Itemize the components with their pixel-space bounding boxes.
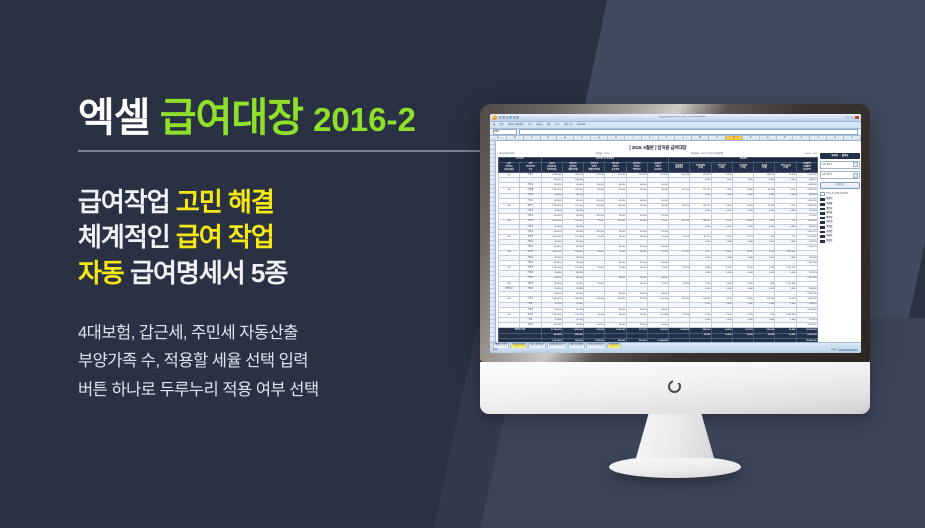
employee-list-item[interactable]: 김수진 [820, 221, 860, 224]
side-panel-title: 명세서 → 출력용 [820, 153, 860, 159]
column-header-s[interactable]: S [793, 136, 810, 141]
payroll-table-body: 001박진혁4,800,000580,000100,000200,000100,… [499, 172, 818, 341]
zoom-level: 100% [831, 349, 837, 352]
column-header-a[interactable]: A [490, 136, 507, 141]
employee-list-item[interactable]: 윤보영 [820, 240, 860, 243]
employee-name: 정가영 [826, 217, 832, 220]
sheet-tab[interactable]: 엑셀기초입력 [493, 343, 509, 348]
payroll-col-header: 연차수당수당금휴가수당 [605, 162, 626, 172]
employee-name: 최기호 [826, 212, 832, 215]
headline-line-3: 자동 급여명세서 5종 [78, 256, 478, 291]
headline-3-plain: 급여명세서 5종 [130, 258, 287, 288]
employee-list-item[interactable]: 최기호 [820, 212, 860, 215]
report-side-panel: 명세서 → 출력용 다음 페이지 이전 페이지 미리보기 [820, 143, 860, 342]
monitor-screen: 엑셀급여대장 2016-2 작업본 - Microsoft Excel 홈 삽입… [490, 114, 861, 353]
prev-page-row[interactable]: 이전 페이지 [820, 171, 860, 180]
sheet-tab[interactable]: 급여_급여지급서 [586, 343, 606, 348]
payroll-col-header: 지방소득세(공제) [775, 162, 796, 172]
step-up-icon[interactable] [853, 173, 858, 178]
employee-name: 정진구 [826, 208, 832, 211]
employee-name: 이현숙 [826, 235, 832, 238]
payroll-col-header: 고용보험(공제) [732, 162, 753, 172]
column-header-o-selected[interactable]: O [726, 136, 743, 141]
column-header-u[interactable]: U [827, 136, 844, 141]
checkbox-icon[interactable] [820, 192, 825, 197]
meta-date: 작성일자 : 2016년 7월 10일 월요일 [691, 153, 723, 156]
column-header-f[interactable]: F [574, 136, 591, 141]
employee-name-list: 박진혁이상률정진구최기호정가영김수진주영진김혁진이현숙윤보영 [820, 198, 860, 242]
ribbon-tab-4[interactable]: 데이터 [536, 124, 543, 127]
subsidy-checkbox-row[interactable]: 두루누리 보험료 지원대상 [820, 192, 860, 197]
employee-list-item[interactable]: 이현숙 [820, 235, 860, 238]
monitor: 엑셀급여대장 2016-2 작업본 - Microsoft Excel 홈 삽입… [480, 104, 870, 478]
apple-logo-icon [668, 380, 681, 393]
column-header-m[interactable]: M [692, 136, 709, 141]
column-header-q[interactable]: Q [760, 136, 777, 141]
zoom-slider[interactable] [838, 349, 858, 351]
office-orb-icon[interactable] [492, 115, 497, 120]
headline-1-plain: 급여작업 [78, 187, 170, 217]
meta-version: Ver.02 : 1/10 [805, 153, 817, 156]
payroll-col-header: 월차수당수당금백간수당 [626, 162, 647, 172]
ribbon-tab-6[interactable]: 보기 [555, 124, 559, 127]
excel-titlebar: 엑셀급여대장 2016-2 작업본 - Microsoft Excel [490, 114, 861, 122]
column-header-h[interactable]: H [608, 136, 625, 141]
hero-copy: 엑셀 급여대장 2016-2 급여작업 고민 해결 체계적인 급여 작업 자동 … [78, 96, 478, 404]
description-line-3: 버튼 하나로 두루누리 적용 여부 선택 [78, 376, 478, 404]
payroll-col-header: 기본급(급여포함)식대항목합 [541, 162, 562, 172]
employee-list-item[interactable]: 박진혁 [820, 198, 860, 201]
column-header-l[interactable]: L [675, 136, 692, 141]
sheet-tab[interactable]: 엑셀급여대장 [510, 343, 526, 348]
column-header-n[interactable]: N [709, 136, 726, 141]
sheet-tab[interactable]: 급여명세서(가로) [547, 343, 567, 348]
minimize-icon [845, 116, 849, 119]
ribbon-tab-8[interactable]: Acrobat [577, 124, 585, 127]
page-title: 엑셀 급여대장 2016-2 [78, 96, 478, 141]
sheet-content: [ 2016. 6월분 ] 임직원 급여대장 (주)한국인사관리 용지율 : 1… [496, 141, 861, 342]
column-header-i[interactable]: I [625, 136, 642, 141]
excel-window-caption: 엑셀급여대장 2016-2 작업본 - Microsoft Excel [521, 116, 844, 119]
sheet-tab[interactable]: 사원설명서 [607, 343, 621, 348]
employee-number-chip [820, 221, 825, 224]
column-header-d[interactable]: D [541, 136, 558, 141]
excel-status-bar: 준비 100% [490, 348, 861, 353]
title-part-payroll: 급여대장 [160, 96, 303, 140]
payroll-col-header: 지급총액특급지급 [669, 162, 690, 172]
excel-window: 엑셀급여대장 2016-2 작업본 - Microsoft Excel 홈 삽입… [490, 114, 861, 353]
prev-page-label: 이전 페이지 [822, 174, 852, 177]
payroll-table: 기본사항 지급내역 및 항목정보 공제내역 사번주민번호입사년월일성명직급/직책… [498, 157, 818, 342]
employee-list-item[interactable]: 정진구 [820, 208, 860, 211]
name-box[interactable]: O60 [493, 129, 517, 135]
title-part-excel: 엑셀 [78, 96, 150, 140]
payroll-report: [ 2016. 6월분 ] 임직원 급여대장 (주)한국인사관리 용지율 : 1… [498, 143, 818, 342]
ribbon-tab-1[interactable]: 삽입 [499, 124, 503, 127]
payroll-col-header: 직책수당수당금특별격지급합 [584, 162, 605, 172]
column-header-r[interactable]: R [777, 136, 794, 141]
column-label-row: 사번주민번호입사년월일성명직급/직책부서기본급(급여포함)식대항목합직급수당(월… [499, 162, 818, 172]
maximize-icon [850, 116, 854, 119]
column-header-g[interactable]: G [591, 136, 608, 141]
excel-ribbon-tabs[interactable]: 홈 삽입 페이지 레이아웃 수식 데이터 검토 보기 개발 도구 Acrobat [490, 122, 861, 129]
description-line-2: 부양가족 수, 적용할 세율 선택 입력 [78, 347, 478, 375]
monitor-chin [480, 362, 870, 414]
ribbon-tab-7[interactable]: 개발 도구 [564, 124, 573, 127]
ribbon-tab-3[interactable]: 수식 [528, 124, 532, 127]
ribbon-tab-2[interactable]: 페이지 레이아웃 [508, 124, 524, 127]
quick-access-toolbar[interactable] [499, 116, 520, 119]
description-group: 4대보험, 갑근세, 주민세 자동산출 부양가족 수, 적용할 세율 선택 입력… [78, 319, 478, 404]
column-header-e[interactable]: E [557, 136, 574, 141]
employee-name: 윤보영 [826, 240, 832, 243]
employee-list-item[interactable]: 이상률 [820, 203, 860, 206]
column-header-c[interactable]: C [524, 136, 541, 141]
payroll-col-header: 초과근무연장금근로수당 [647, 162, 668, 172]
column-header-t[interactable]: T [810, 136, 827, 141]
payroll-col-header: 직급수당(월액급)과물지급합 [562, 162, 583, 172]
headline-1-accent: 고민 해결 [176, 187, 274, 217]
payroll-col-header: 사번주민번호입사년월일 [499, 162, 520, 172]
employee-number-chip [820, 208, 825, 211]
headline-line-2: 체계적인 급여 작업 [78, 220, 478, 255]
employee-number-chip [820, 231, 825, 234]
employee-list-item[interactable]: 정가영 [820, 217, 860, 220]
column-header-b[interactable]: B [507, 136, 524, 141]
next-page-row[interactable]: 다음 페이지 [820, 161, 860, 170]
next-page-label: 다음 페이지 [822, 164, 852, 167]
payroll-col-header: 건강보험료(공제) [690, 162, 711, 172]
ribbon-tab-0[interactable]: 홈 [493, 124, 495, 127]
employee-number-chip [820, 226, 825, 229]
preview-button[interactable]: 미리보기 [820, 182, 860, 190]
title-divider [78, 150, 482, 152]
zoom-control[interactable]: 100% [831, 349, 858, 352]
subsidy-label: 두루누리 보험료 지원대상 [826, 193, 848, 196]
employee-number-chip [820, 240, 825, 243]
description-line-1: 4대보험, 갑근세, 주민세 자동산출 [78, 319, 478, 347]
sheet-tab[interactable]: 급여_급여지급 [528, 343, 546, 348]
payroll-col-header: 갑근세(공제) [754, 162, 775, 172]
meta-company: (주)한국인사관리 [499, 153, 515, 156]
meta-rate: 용지율 : 100% [596, 153, 609, 156]
employee-number-chip [820, 198, 825, 201]
employee-list-item[interactable]: 김혁진 [820, 231, 860, 234]
employee-name: 김혁진 [826, 231, 832, 234]
payroll-col-header: 지급총액공제총액실지급액 [796, 162, 817, 172]
headline-3-accent: 자동 [78, 258, 124, 288]
employee-name: 이상률 [826, 203, 832, 206]
monitor-bezel: 엑셀급여대장 2016-2 작업본 - Microsoft Excel 홈 삽입… [480, 104, 870, 362]
employee-number-chip [820, 235, 825, 238]
employee-number-chip [820, 203, 825, 206]
payroll-col-header: 장기요양(공제) [711, 162, 732, 172]
headline-line-1: 급여작업 고민 해결 [78, 185, 478, 220]
title-year: 2016-2 [313, 101, 416, 138]
excel-worksheet: [ 2016. 6월분 ] 임직원 급여대장 (주)한국인사관리 용지율 : 1… [490, 141, 861, 342]
formula-input[interactable] [519, 129, 858, 135]
employee-name: 주영진 [826, 226, 832, 229]
slide-canvas: 엑셀 급여대장 2016-2 급여작업 고민 해결 체계적인 급여 작업 자동 … [0, 0, 925, 528]
column-header-v[interactable]: V [844, 136, 861, 141]
headline-2-plain: 체계적인 [78, 222, 170, 252]
window-controls[interactable] [845, 116, 859, 119]
status-text: 준비 [493, 349, 497, 352]
report-title: [ 2016. 6월분 ] 임직원 급여대장 [498, 143, 818, 153]
column-header-k[interactable]: K [659, 136, 676, 141]
employee-number-chip [820, 212, 825, 215]
sheet-tab[interactable]: 급여_지급명세 [568, 343, 586, 348]
column-header-j[interactable]: J [642, 136, 659, 141]
headline-2-accent: 급여 작업 [176, 222, 274, 252]
employee-number-chip [820, 217, 825, 220]
step-down-icon[interactable] [853, 162, 858, 167]
close-icon [855, 116, 859, 119]
column-header-p[interactable]: P [743, 136, 760, 141]
payroll-col-header: 성명직급/직책부서 [520, 162, 541, 172]
employee-name: 박진혁 [826, 198, 832, 201]
employee-name: 김수진 [826, 221, 832, 224]
employee-list-item[interactable]: 주영진 [820, 226, 860, 229]
payroll-table-head: 기본사항 지급내역 및 항목정보 공제내역 사번주민번호입사년월일성명직급/직책… [499, 157, 818, 172]
monitor-stand-neck [636, 414, 714, 458]
monitor-stand-foot [609, 456, 741, 478]
headline-group: 급여작업 고민 해결 체계적인 급여 작업 자동 급여명세서 5종 [78, 185, 478, 291]
ribbon-tab-5[interactable]: 검토 [547, 124, 551, 127]
